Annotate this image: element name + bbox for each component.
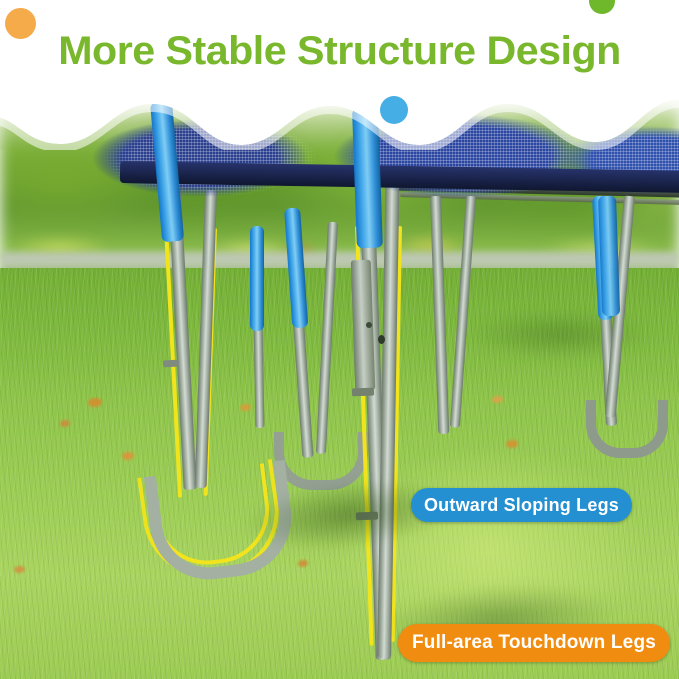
pole-sleeve-center (352, 108, 383, 249)
product-feature-poster: More Stable Structure Design Outward Slo… (0, 0, 679, 679)
badge-outward-sloping-legs[interactable]: Outward Sloping Legs (411, 488, 632, 522)
leg-joint-center-upper (352, 388, 374, 397)
product-photo (0, 0, 679, 679)
trampoline-u-bend-far-right (586, 400, 668, 458)
badge-full-area-touchdown-legs[interactable]: Full-area Touchdown Legs (398, 624, 670, 662)
leg-bolt-center-2 (378, 335, 385, 344)
leg-bolt-center (366, 322, 372, 328)
page-title: More Stable Structure Design (0, 29, 679, 74)
pole-sleeve-rear-small (250, 226, 264, 331)
safety-net-mesh-texture (0, 96, 679, 224)
blue-dot-icon (380, 96, 408, 124)
leg-joint-left (163, 360, 179, 368)
